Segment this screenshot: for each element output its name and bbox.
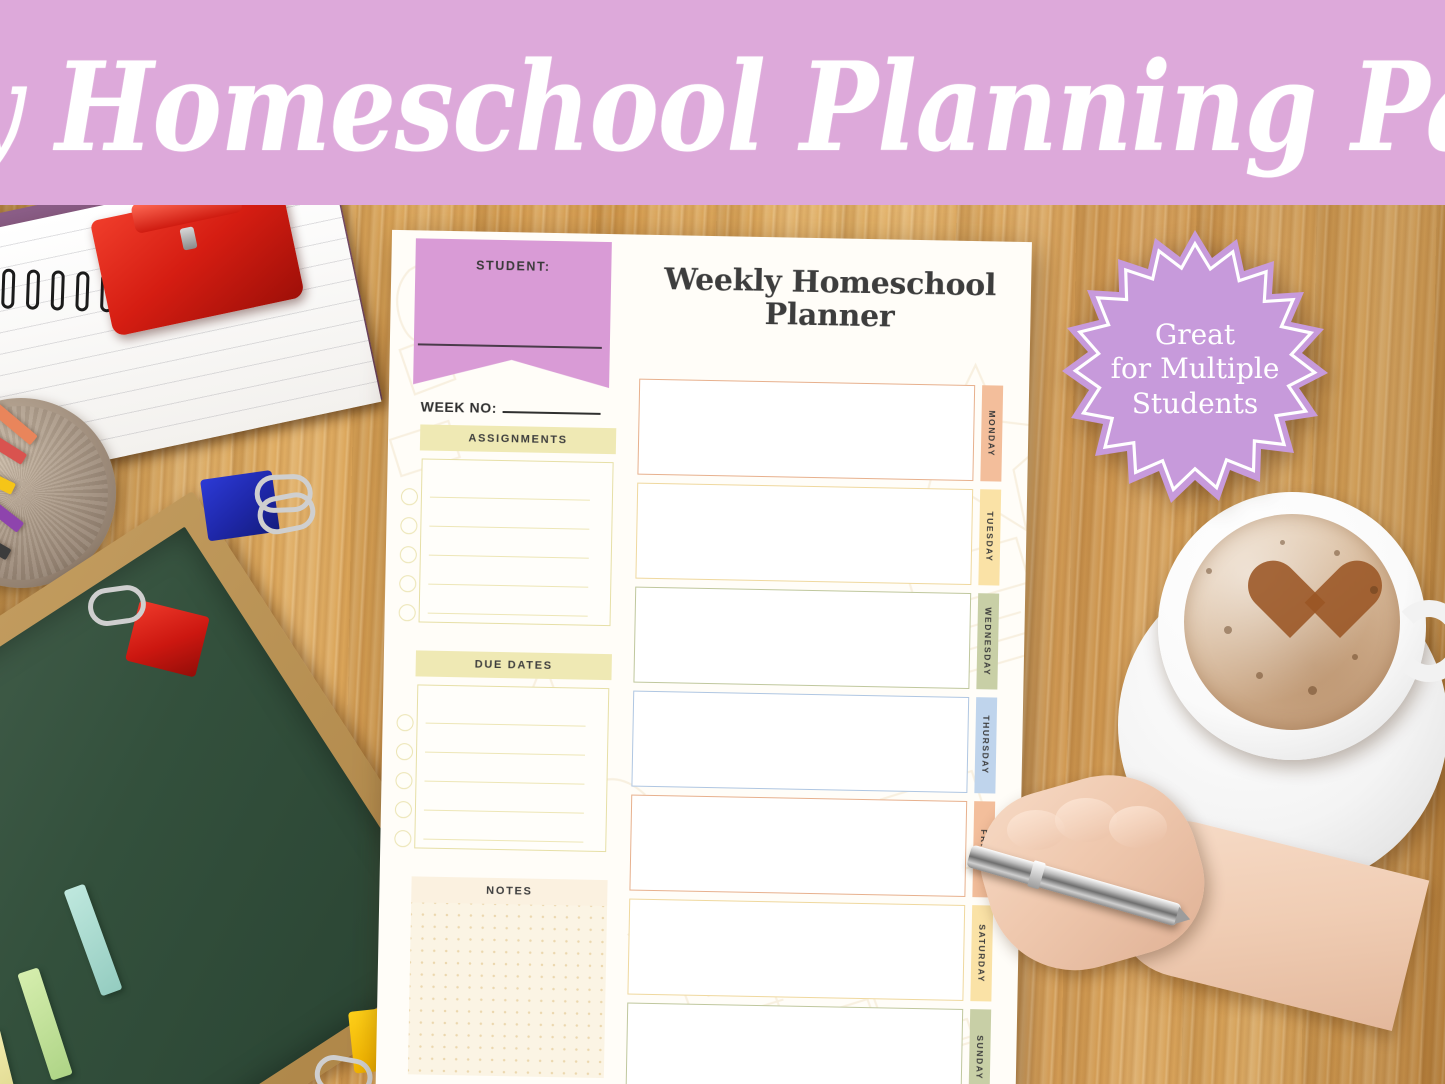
- monday-writing-box[interactable]: [637, 379, 975, 481]
- assignment-checklist-row[interactable]: [399, 604, 588, 625]
- assignments-box[interactable]: [419, 458, 614, 626]
- notes-dotted-area[interactable]: [408, 902, 607, 1078]
- starburst-shape: [1062, 228, 1328, 510]
- wednesday-writing-box[interactable]: [633, 587, 971, 689]
- assignment-checklist-row[interactable]: [400, 546, 589, 567]
- page-title: Weekly Homeschool Planner: [640, 263, 1019, 336]
- assignment-checklist-row[interactable]: [401, 488, 590, 509]
- day-tab-monday: MONDAY: [980, 385, 1003, 481]
- write-line: [428, 583, 588, 588]
- checkbox-circle[interactable]: [400, 517, 417, 534]
- checkbox-circle[interactable]: [401, 488, 418, 505]
- write-line: [429, 525, 589, 530]
- foam-bubble: [1206, 568, 1212, 574]
- day-label-tuesday: TUESDAY: [984, 512, 995, 563]
- banner-title: Easy Homeschool Planning Pages: [0, 46, 1445, 169]
- assignment-checklist-row[interactable]: [399, 575, 588, 596]
- day-row-tuesday[interactable]: TUESDAY: [635, 483, 1001, 586]
- knuckle: [1109, 806, 1167, 848]
- day-row-friday[interactable]: FRIDAY: [629, 795, 995, 898]
- write-line: [426, 722, 586, 727]
- hand-with-pen: [985, 772, 1345, 1084]
- due-date-checklist-row[interactable]: [396, 743, 585, 764]
- day-label-sunday: SUNDAY: [974, 1035, 985, 1080]
- day-row-saturday[interactable]: SATURDAY: [627, 899, 993, 1002]
- thursday-writing-box[interactable]: [631, 691, 969, 793]
- cinnamon-heart-icon: [1246, 564, 1338, 646]
- friday-writing-box[interactable]: [629, 795, 967, 897]
- foam-bubble: [1308, 686, 1317, 695]
- checkbox-circle[interactable]: [400, 546, 417, 563]
- notes-heading: NOTES: [411, 876, 607, 906]
- week-number-field[interactable]: WEEK NO:: [421, 398, 602, 417]
- assignments-heading: ASSIGNMENTS: [420, 424, 616, 454]
- write-line: [424, 780, 584, 785]
- sunday-writing-box[interactable]: [625, 1003, 963, 1084]
- foam-bubble: [1370, 586, 1378, 594]
- day-label-wednesday: WEDNESDAY: [982, 607, 993, 676]
- day-tab-tuesday: TUESDAY: [978, 489, 1001, 585]
- tuesday-writing-box[interactable]: [635, 483, 973, 585]
- day-row-thursday[interactable]: THURSDAY: [631, 691, 997, 794]
- due-dates-heading: DUE DATES: [415, 650, 611, 680]
- due-dates-box[interactable]: [414, 684, 609, 852]
- day-row-monday[interactable]: MONDAY: [637, 379, 1003, 482]
- foam-bubble: [1334, 550, 1340, 556]
- coffee-cup: [1158, 492, 1426, 760]
- foam-bubble: [1280, 540, 1285, 545]
- foam-bubble: [1224, 626, 1232, 634]
- due-date-checklist-row[interactable]: [395, 772, 584, 793]
- assignment-checklist-row[interactable]: [400, 517, 589, 538]
- checkbox-circle[interactable]: [395, 772, 412, 789]
- promo-starburst-badge: Great for Multiple Students: [1062, 228, 1328, 510]
- week-number-line[interactable]: [503, 411, 601, 415]
- checkbox-circle[interactable]: [399, 575, 416, 592]
- due-date-checklist-row[interactable]: [395, 801, 584, 822]
- week-number-label: WEEK NO:: [421, 398, 498, 415]
- planner-page-surface: STUDENT: Weekly Homeschool Planner WEEK …: [376, 230, 1032, 1084]
- day-tab-wednesday: WEDNESDAY: [976, 593, 999, 689]
- checkbox-circle[interactable]: [396, 743, 413, 760]
- foam-bubble: [1256, 672, 1263, 679]
- write-line: [428, 612, 588, 617]
- write-line: [429, 554, 589, 559]
- knuckle: [1055, 798, 1117, 842]
- due-date-checklist-row[interactable]: [394, 830, 583, 851]
- checkbox-circle[interactable]: [394, 830, 411, 847]
- due-date-checklist-row[interactable]: [396, 714, 585, 735]
- checkbox-circle[interactable]: [395, 801, 412, 818]
- day-label-monday: MONDAY: [986, 410, 997, 457]
- foam-bubble: [1352, 654, 1358, 660]
- saturday-writing-box[interactable]: [627, 899, 965, 1001]
- product-mockup-image: STUDENT: Weekly Homeschool Planner WEEK …: [0, 0, 1445, 1084]
- weekly-planner-page[interactable]: STUDENT: Weekly Homeschool Planner WEEK …: [376, 230, 1032, 1084]
- write-line: [424, 809, 584, 814]
- header-banner: Easy Homeschool Planning Pages: [0, 0, 1445, 205]
- write-line: [423, 838, 583, 843]
- day-row-sunday[interactable]: SUNDAY: [625, 1003, 991, 1084]
- checkbox-circle[interactable]: [396, 714, 413, 731]
- stapler-hinge: [179, 226, 197, 250]
- day-label-thursday: THURSDAY: [980, 716, 991, 775]
- write-line: [430, 496, 590, 501]
- write-line: [425, 751, 585, 756]
- coffee-foam: [1184, 514, 1400, 730]
- pen-ring: [1027, 860, 1046, 889]
- checkbox-circle[interactable]: [399, 604, 416, 621]
- day-row-wednesday[interactable]: WEDNESDAY: [633, 587, 999, 690]
